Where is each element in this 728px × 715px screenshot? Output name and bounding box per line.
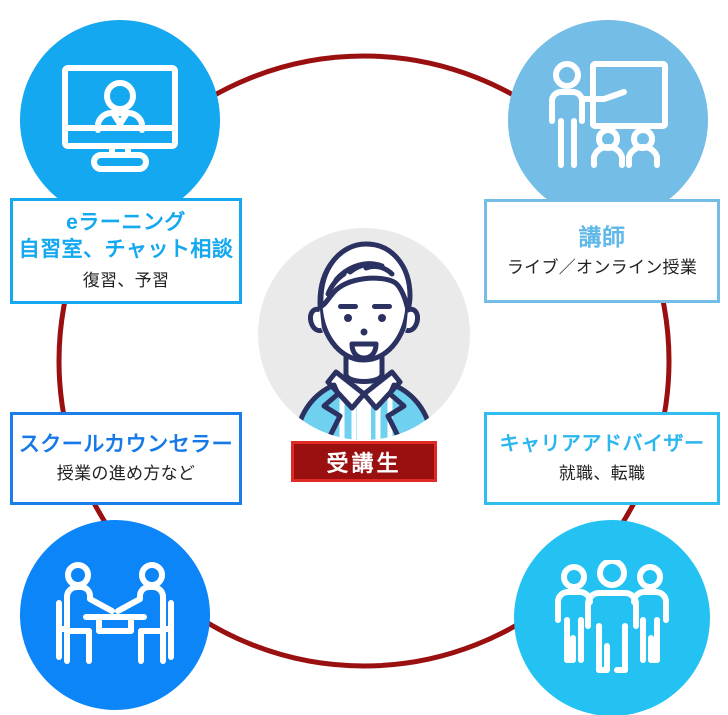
label-box-school-counselor-subtitle: 授業の進め方など xyxy=(57,463,195,485)
teacher-whiteboard-icon xyxy=(546,59,670,181)
center-badge-label: 受講生 xyxy=(326,446,401,478)
label-box-instructor-title: 講師 xyxy=(579,223,626,252)
label-box-school-counselor-title: スクールカウンセラー xyxy=(19,432,233,459)
label-box-e-learning-title-line1: eラーニング xyxy=(19,210,234,237)
center-badge-student: 受講生 xyxy=(291,441,437,482)
label-box-e-learning-subtitle: 復習、予習 xyxy=(83,270,170,292)
node-circle-school-counselor xyxy=(20,520,210,710)
label-box-instructor-subtitle: ライブ／オンライン授業 xyxy=(507,257,697,279)
student-avatar xyxy=(258,228,470,440)
node-circle-e-learning xyxy=(20,20,220,220)
label-box-instructor: 講師 ライブ／オンライン授業 xyxy=(484,199,720,303)
label-box-career-advisor-subtitle: 就職、転職 xyxy=(559,463,646,485)
label-box-school-counselor: スクールカウンセラー 授業の進め方など xyxy=(10,412,242,505)
label-box-e-learning-title: eラーニング 自習室、チャット相談 xyxy=(19,210,234,264)
two-people-table-icon xyxy=(54,559,176,671)
node-circle-instructor xyxy=(508,20,708,220)
node-circle-career-advisor xyxy=(514,520,710,715)
label-box-career-advisor-title: キャリアアドバイザー xyxy=(500,432,705,458)
student-avatar-illustration xyxy=(258,228,470,440)
monitor-person-icon xyxy=(56,60,184,180)
label-box-career-advisor: キャリアアドバイザー 就職、転職 xyxy=(484,412,720,505)
label-box-e-learning-title-line2: 自習室、チャット相談 xyxy=(19,237,234,264)
label-box-e-learning: eラーニング 自習室、チャット相談 復習、予習 xyxy=(10,198,242,304)
group-people-icon xyxy=(554,560,670,676)
support-structure-diagram: 受講生 eラーニング 自習室、チャット相談 復習、予習 講師 ライブ／オンライン… xyxy=(0,0,728,715)
